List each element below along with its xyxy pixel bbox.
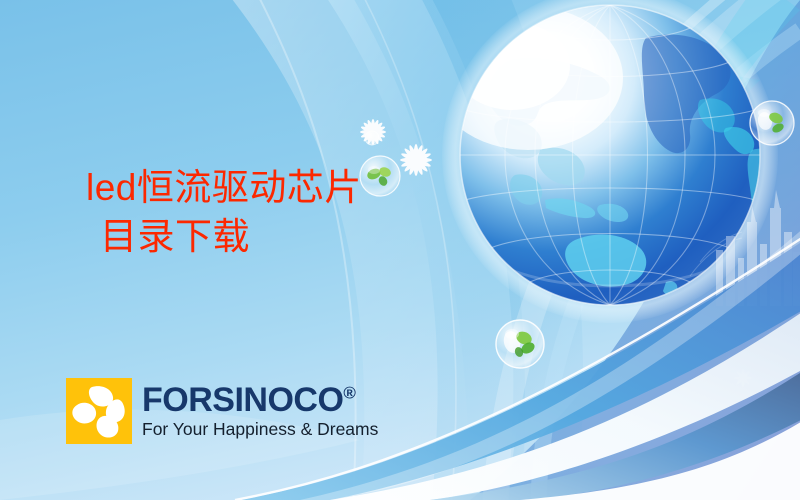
earth-globe-group	[433, 0, 795, 323]
logo-text-block: FORSINOCO® For Your Happiness & Dreams	[142, 383, 378, 439]
logo-wordmark: FORSINOCO®	[142, 383, 378, 417]
headline-line-2: 目录下载	[100, 212, 362, 261]
headline-text: led恒流驱动芯片 目录下载	[86, 163, 362, 261]
logo-wordmark-text: FORSINOCO	[142, 381, 343, 419]
logo-tagline: For Your Happiness & Dreams	[142, 420, 378, 439]
registered-trademark-icon: ®	[343, 384, 355, 403]
bubble-group	[360, 101, 794, 368]
sparkle-group	[360, 119, 752, 387]
four-petal-flower-icon	[66, 378, 132, 444]
promo-banner: led恒流驱动芯片 目录下载 FORSINOCO®	[0, 0, 800, 500]
city-skyline-group	[690, 190, 800, 306]
company-logo: FORSINOCO® For Your Happiness & Dreams	[66, 378, 378, 444]
headline-line-1: led恒流驱动芯片	[86, 163, 362, 212]
logo-mark-tile	[66, 378, 132, 444]
